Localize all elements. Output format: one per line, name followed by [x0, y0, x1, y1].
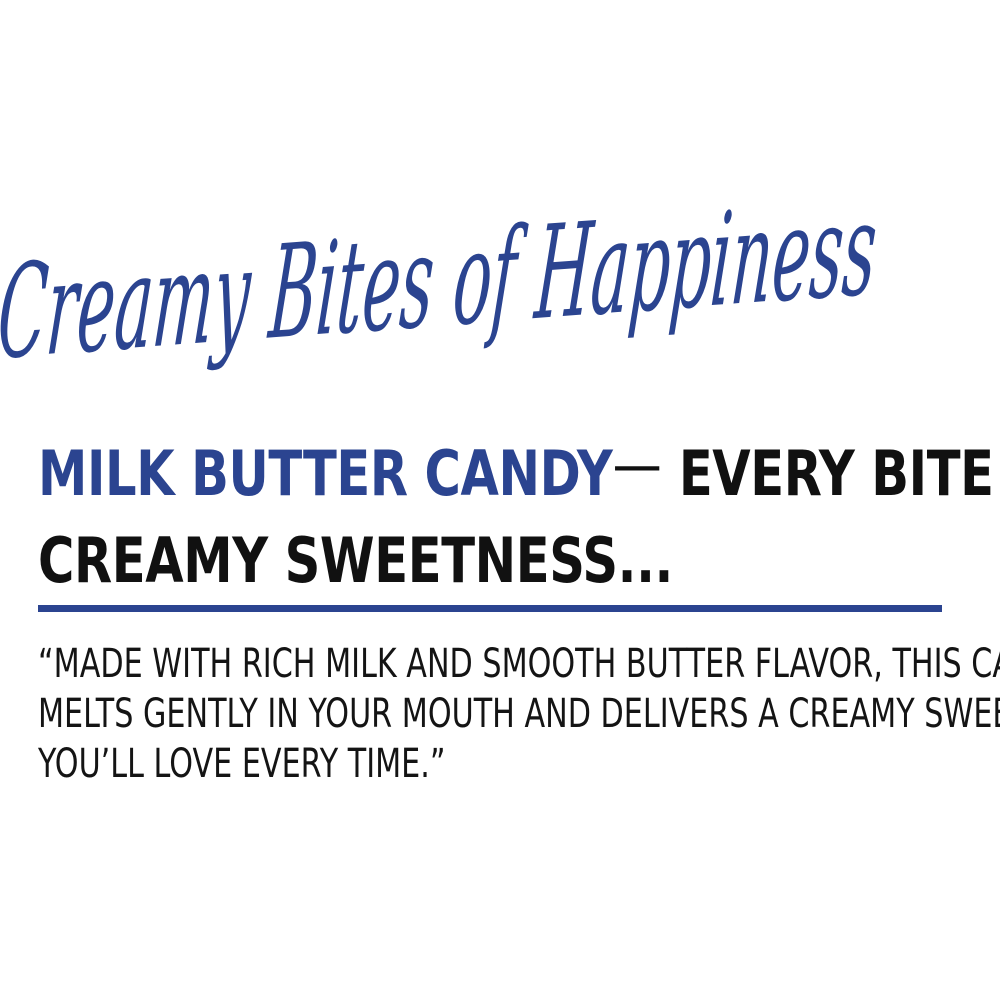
headline-block: MILK BUTTER CANDY— EVERY BITE PACKS CREA…: [38, 430, 968, 604]
body-quote-line: “MADE WITH RICH MILK AND SMOOTH BUTTER F…: [38, 639, 748, 689]
poster-canvas: Creamy Bites of Happiness MILK BUTTER CA…: [0, 0, 1000, 1000]
headline-rest: EVERY BITE PACKS: [679, 437, 1000, 510]
headline-em-dash: —: [612, 442, 662, 490]
headline-line-1: MILK BUTTER CANDY— EVERY BITE PACKS: [38, 430, 782, 517]
script-logo-text: Creamy Bites of Happiness: [0, 196, 881, 389]
body-quote-line: YOU’LL LOVE EVERY TIME.”: [38, 739, 748, 789]
script-logo: Creamy Bites of Happiness: [0, 196, 1000, 406]
body-quote-line: MELTS GENTLY IN YOUR MOUTH AND DELIVERS …: [38, 689, 748, 739]
script-logo-svg: Creamy Bites of Happiness: [0, 196, 1000, 406]
headline-line-2-text: CREAMY SWEETNESS...: [38, 524, 673, 597]
divider-rule: [38, 605, 942, 612]
headline-highlight: MILK BUTTER CANDY: [38, 437, 612, 510]
headline-line-2: CREAMY SWEETNESS...: [38, 517, 782, 604]
body-quote-block: “MADE WITH RICH MILK AND SMOOTH BUTTER F…: [38, 639, 978, 789]
